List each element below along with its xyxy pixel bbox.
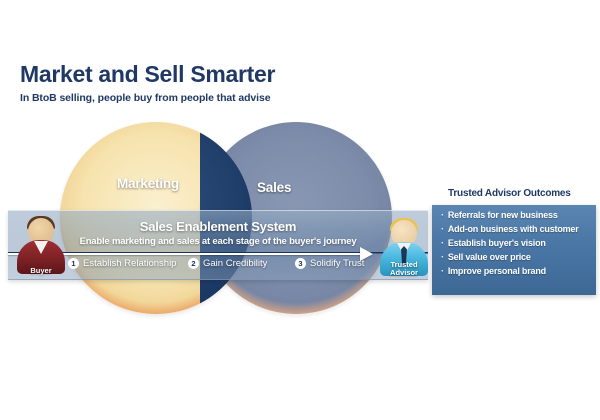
sales-label: Sales [257, 180, 291, 195]
step-solidify-trust: 3 Solidify Trust [295, 258, 364, 269]
outcome-item: · Improve personal brand [441, 267, 592, 276]
journey-arrow-icon [360, 247, 373, 261]
marketing-label: Marketing [117, 176, 179, 191]
step-2-number: 2 [188, 258, 199, 269]
outcome-label: Sell value over price [448, 253, 531, 262]
page-title: Market and Sell Smarter [20, 62, 275, 87]
outcomes-heading: Trusted Advisor Outcomes [448, 188, 571, 199]
steps-row: 1 Establish Relationship 2 Gain Credibil… [68, 258, 368, 276]
page-subtitle: In BtoB selling, people buy from people … [20, 92, 275, 104]
advisor-label-line2: Advisor [390, 268, 418, 277]
outcome-item: · Add-on business with customer [441, 225, 592, 234]
outcomes-list: · Referrals for new business · Add-on bu… [441, 211, 592, 281]
outcome-item: · Sell value over price [441, 253, 592, 262]
outcome-label: Improve personal brand [448, 267, 546, 276]
banner-subtitle: Enable marketing and sales at each stage… [8, 236, 428, 247]
bullet-icon: · [441, 225, 444, 234]
bullet-icon: · [441, 253, 444, 262]
outcome-item: · Referrals for new business [441, 211, 592, 220]
bullet-icon: · [441, 211, 444, 220]
step-3-label: Solidify Trust [310, 258, 364, 269]
trusted-advisor-avatar: TrustedAdvisor [377, 216, 431, 278]
outcomes-panel: · Referrals for new business · Add-on bu… [432, 205, 596, 295]
step-establish-relationship: 1 Establish Relationship [68, 258, 176, 269]
buyer-label: Buyer [14, 267, 68, 275]
step-2-label: Gain Credibility [203, 258, 267, 269]
sales-enablement-banner: Sales Enablement System Enable marketing… [8, 210, 428, 280]
bullet-icon: · [441, 267, 444, 276]
outcome-label: Add-on business with customer [448, 225, 579, 234]
step-gain-credibility: 2 Gain Credibility [188, 258, 267, 269]
advisor-label: TrustedAdvisor [377, 261, 431, 277]
bullet-icon: · [441, 239, 444, 248]
title-block: Market and Sell Smarter In BtoB selling,… [20, 62, 275, 104]
buyer-avatar: Buyer [14, 214, 68, 276]
banner-title: Sales Enablement System [8, 219, 428, 234]
step-3-number: 3 [295, 258, 306, 269]
step-1-number: 1 [68, 258, 79, 269]
step-1-label: Establish Relationship [83, 258, 176, 269]
outcome-label: Establish buyer's vision [448, 239, 546, 248]
infographic-canvas: Market and Sell Smarter In BtoB selling,… [0, 0, 600, 420]
outcome-item: · Establish buyer's vision [441, 239, 592, 248]
outcome-label: Referrals for new business [448, 211, 558, 220]
